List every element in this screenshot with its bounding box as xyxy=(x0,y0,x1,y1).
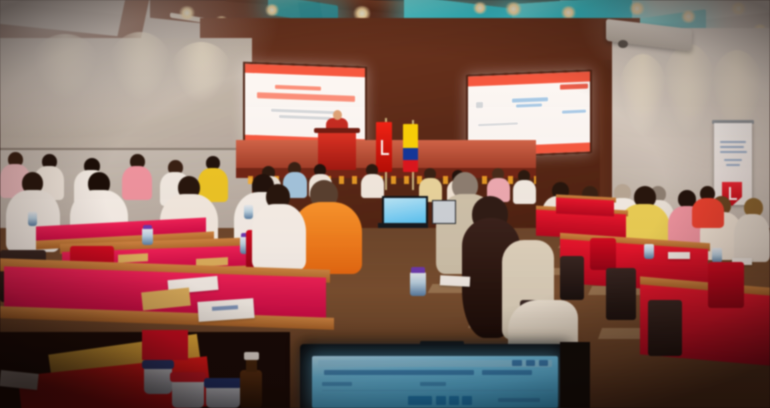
chair xyxy=(648,300,682,356)
soda-bottle-cap xyxy=(244,352,259,360)
cup-lid xyxy=(170,372,206,382)
laptop-right-dark-edge xyxy=(560,342,590,408)
bottle-cap xyxy=(143,225,152,229)
water-bottle xyxy=(28,212,37,226)
paper-handout xyxy=(440,275,470,287)
monitor xyxy=(432,200,456,224)
podium xyxy=(318,130,356,170)
bottle-cap xyxy=(411,267,425,273)
speaker-head xyxy=(333,110,342,120)
foreground-tablecloth-red xyxy=(142,330,188,360)
cup-lid xyxy=(204,378,242,388)
soda-bottle-neck xyxy=(246,358,257,372)
institutional-red-flag xyxy=(376,122,392,172)
conference-room-photo xyxy=(0,0,770,408)
paper-handout xyxy=(197,298,254,322)
chair xyxy=(590,238,616,270)
chair xyxy=(606,268,636,320)
soda-bottle xyxy=(240,370,262,408)
cup-lid xyxy=(142,360,174,369)
paper-handout xyxy=(668,252,690,259)
water-bottle xyxy=(244,205,253,219)
foreground-laptop-screen xyxy=(312,356,558,408)
water-bottle xyxy=(644,244,654,259)
flag-emblem xyxy=(381,140,389,155)
water-bottle xyxy=(410,272,426,296)
projector-lens xyxy=(618,40,628,48)
water-bottle xyxy=(712,248,722,263)
chair xyxy=(560,256,584,300)
podium-top xyxy=(314,128,360,133)
colombia-flag xyxy=(403,124,418,172)
water-bottle xyxy=(142,228,153,245)
laptop-base xyxy=(378,223,428,228)
chair xyxy=(708,262,744,308)
